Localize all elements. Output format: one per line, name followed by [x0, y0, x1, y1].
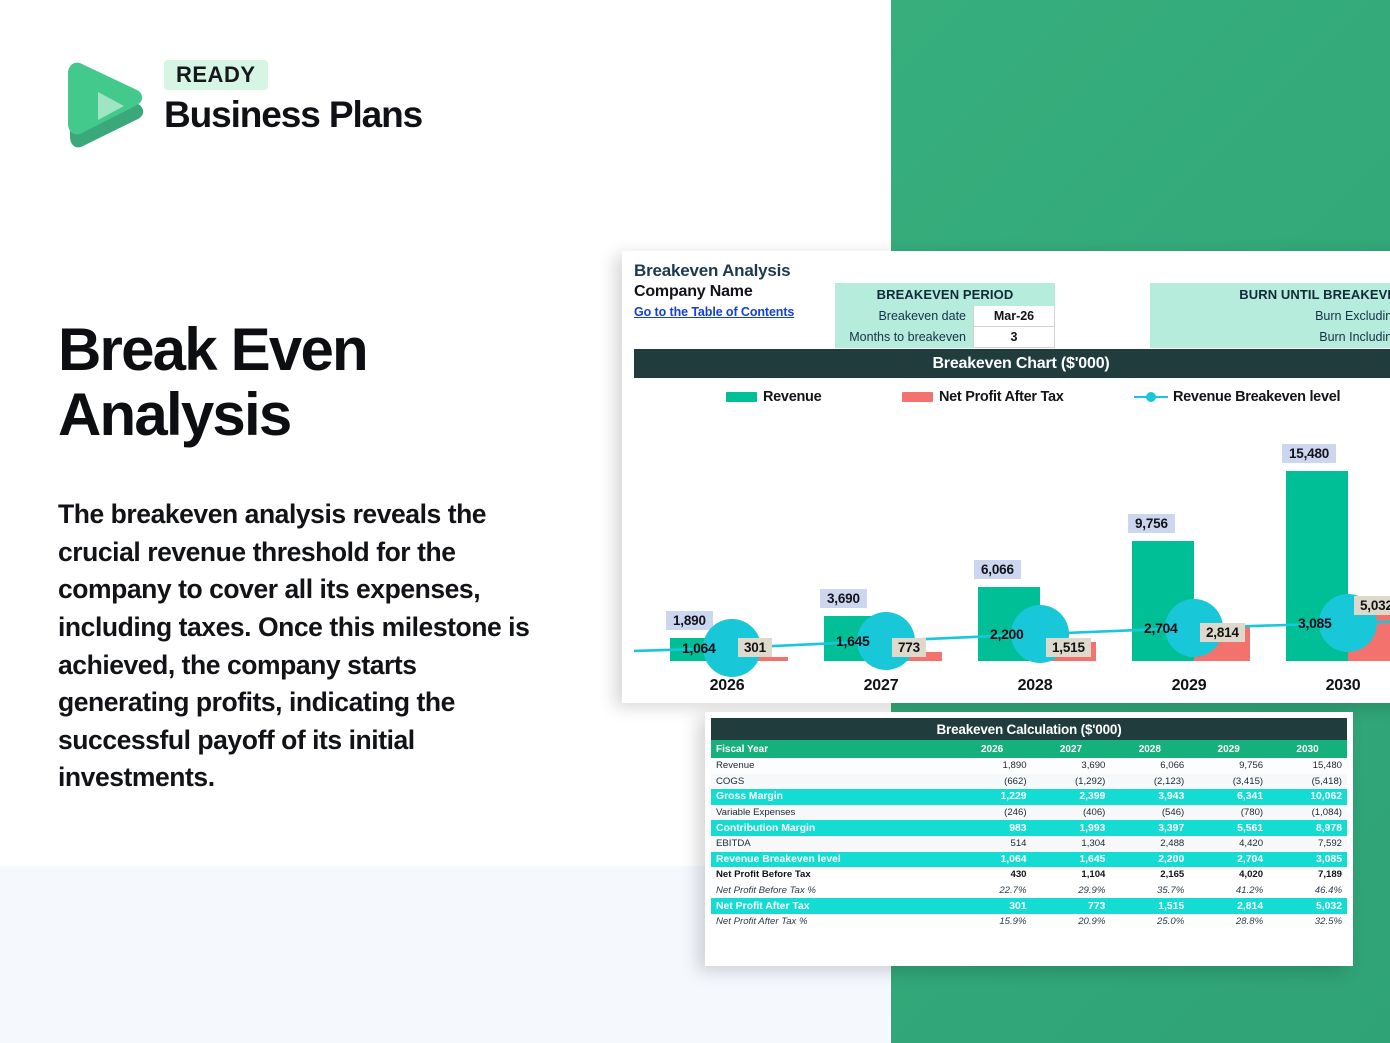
legend-item-revenue: Revenue	[726, 389, 821, 405]
table-cell-value: 5,032	[1268, 898, 1347, 914]
table-cell-value: 1,064	[953, 852, 1032, 868]
table-cell-value: 15,480	[1268, 758, 1347, 774]
x-axis-tick-2028: 2028	[960, 677, 1110, 695]
table-cell-value: 41.2%	[1189, 883, 1268, 899]
table-header-cell-2027: 2027	[1032, 740, 1111, 758]
table-cell-value: 5,561	[1189, 820, 1268, 836]
breakeven-period-header: BREAKEVEN PERIOD	[835, 283, 1055, 306]
legend-swatch-revenue-icon	[726, 392, 757, 402]
page-title: Break Even Analysis	[58, 318, 578, 448]
legend-item-net-profit-after-tax: Net Profit After Tax	[902, 389, 1064, 405]
data-label-breakeven-2027: 1,645	[836, 633, 870, 649]
brand-badge-ready: READY	[164, 60, 268, 90]
data-label-revenue-2029: 9,756	[1128, 514, 1175, 533]
table-cell-value: 46.4%	[1268, 883, 1347, 899]
chart-group-2026: 1,8903011,064	[652, 431, 802, 661]
table-cell-value: 4,020	[1189, 867, 1268, 883]
table-row-label: Variable Expenses	[711, 805, 953, 821]
table-cell-value: 2,200	[1110, 852, 1189, 868]
brand-logo-text: READY Business Plans	[164, 60, 422, 135]
table-cell-value: (546)	[1110, 805, 1189, 821]
table-header-cell-2026: 2026	[953, 740, 1032, 758]
chart-title: Breakeven Chart ($'000)	[634, 349, 1390, 378]
table-row: Revenue Breakeven level1,0641,6452,2002,…	[711, 852, 1347, 868]
table-row-label: Net Profit After Tax %	[711, 914, 953, 930]
table-cell-value: 28.8%	[1189, 914, 1268, 930]
table-cell-value: 2,488	[1110, 836, 1189, 852]
page-description: The breakeven analysis reveals the cruci…	[58, 496, 548, 797]
table-cell-value: 1,515	[1110, 898, 1189, 914]
chart-group-2029: 9,7562,8142,704	[1114, 431, 1264, 661]
table-cell-value: 22.7%	[953, 883, 1032, 899]
table-cell-value: 983	[953, 820, 1032, 836]
table-cell-value: 35.7%	[1110, 883, 1189, 899]
play-triangle-logo-icon	[62, 58, 148, 148]
legend-swatch-breakeven-line-icon	[1134, 392, 1168, 402]
table-cell-value: 1,229	[953, 789, 1032, 805]
table-cell-value: 3,085	[1268, 852, 1347, 868]
sheet-title: Breakeven Analysis	[634, 261, 1390, 281]
legend-label-npat: Net Profit After Tax	[939, 389, 1064, 405]
data-label-revenue-2027: 3,690	[820, 589, 867, 608]
table-cell-value: 7,592	[1268, 836, 1347, 852]
table-cell-value: 3,690	[1032, 758, 1111, 774]
data-label-breakeven-2026: 1,064	[682, 640, 716, 656]
table-cell-value: 10,062	[1268, 789, 1347, 805]
table-cell-value: 1,645	[1032, 852, 1111, 868]
table-cell-value: (1,084)	[1268, 805, 1347, 821]
table-row-label: Net Profit After Tax	[711, 898, 953, 914]
chart-group-2030: 15,4805,0323,085	[1268, 431, 1390, 661]
chart-plot-area: 20261,8903011,06420273,6907731,64520286,…	[634, 411, 1390, 703]
x-axis-tick-2027: 2027	[806, 677, 956, 695]
table-cell-value: 2,814	[1189, 898, 1268, 914]
data-label-npat-2030: 5,032	[1354, 596, 1390, 615]
brand-name: Business Plans	[164, 96, 422, 135]
table-cell-value: 3,397	[1110, 820, 1189, 836]
legend-label-revenue: Revenue	[763, 389, 821, 405]
chart-group-2028: 6,0661,5152,200	[960, 431, 1110, 661]
table-cell-value: (662)	[953, 774, 1032, 790]
table-cell-value: 7,189	[1268, 867, 1347, 883]
breakeven-date-row: Breakeven date Mar-26	[835, 306, 1055, 327]
data-label-revenue-2028: 6,066	[974, 560, 1021, 579]
burn-including-capex-row: Burn Including CAPEX (48.5)	[1150, 327, 1390, 348]
table-row: Net Profit After Tax3017731,5152,8145,03…	[711, 898, 1347, 914]
data-label-breakeven-2028: 2,200	[990, 626, 1024, 642]
table-cell-value: 1,304	[1032, 836, 1111, 852]
table-row: Net Profit Before Tax4301,1042,1654,0207…	[711, 867, 1347, 883]
data-label-breakeven-2030: 3,085	[1298, 615, 1332, 631]
table-cell-value: (2,123)	[1110, 774, 1189, 790]
burn-until-breakeven-header: BURN UNTIL BREAKEVEN ($'000)	[1150, 283, 1390, 306]
months-to-breakeven-label: Months to breakeven	[835, 327, 973, 348]
table-cell-value: 6,066	[1110, 758, 1189, 774]
legend-item-revenue-breakeven-level: Revenue Breakeven level	[1134, 389, 1340, 405]
table-cell-value: 32.5%	[1268, 914, 1347, 930]
breakeven-calculation-card: Breakeven Calculation ($'000) Fiscal Yea…	[705, 712, 1353, 966]
legend-label-breakeven: Revenue Breakeven level	[1173, 389, 1340, 405]
data-label-revenue-2026: 1,890	[666, 611, 713, 630]
breakeven-date-value: Mar-26	[973, 306, 1055, 327]
table-row: Net Profit After Tax %15.9%20.9%25.0%28.…	[711, 914, 1347, 930]
chart-legend: Revenue Net Profit After Tax Revenue Bre…	[634, 385, 1390, 409]
table-cell-value: 6,341	[1189, 789, 1268, 805]
table-header-cell-fiscal-year: Fiscal Year	[711, 740, 953, 758]
table-cell-value: 9,756	[1189, 758, 1268, 774]
brand-logo: READY Business Plans	[62, 58, 442, 158]
table-cell-value: (246)	[953, 805, 1032, 821]
table-cell-value: 8,978	[1268, 820, 1347, 836]
table-row-label: Revenue	[711, 758, 953, 774]
table-row-label: Revenue Breakeven level	[711, 852, 953, 868]
calc-table-title: Breakeven Calculation ($'000)	[711, 718, 1347, 740]
data-label-npat-2028: 1,515	[1046, 638, 1091, 657]
table-cell-value: 15.9%	[953, 914, 1032, 930]
data-label-revenue-2030: 15,480	[1282, 444, 1336, 463]
breakeven-calculation-table: Fiscal Year20262027202820292030Revenue1,…	[711, 740, 1347, 930]
chart-group-2027: 3,6907731,645	[806, 431, 956, 661]
table-cell-value: (1,292)	[1032, 774, 1111, 790]
table-row: Contribution Margin9831,9933,3975,5618,9…	[711, 820, 1347, 836]
table-row: Net Profit Before Tax %22.7%29.9%35.7%41…	[711, 883, 1347, 899]
data-label-npat-2027: 773	[892, 638, 926, 657]
table-row: EBITDA5141,3042,4884,4207,592	[711, 836, 1347, 852]
table-cell-value: 430	[953, 867, 1032, 883]
data-label-npat-2026: 301	[738, 638, 772, 657]
burn-excluding-capex-label: Burn Excluding CAPEX	[1150, 306, 1390, 327]
table-row-label: EBITDA	[711, 836, 953, 852]
slide-canvas: READY Business Plans Break Even Analysis…	[0, 0, 1390, 1043]
table-row-label: Net Profit Before Tax	[711, 867, 953, 883]
months-to-breakeven-value: 3	[973, 327, 1055, 348]
table-cell-value: 25.0%	[1110, 914, 1189, 930]
table-row-label: Contribution Margin	[711, 820, 953, 836]
table-row: COGS(662)(1,292)(2,123)(3,415)(5,418)	[711, 774, 1347, 790]
table-cell-value: (406)	[1032, 805, 1111, 821]
table-cell-value: 514	[953, 836, 1032, 852]
table-cell-value: 29.9%	[1032, 883, 1111, 899]
burn-including-capex-label: Burn Including CAPEX	[1150, 327, 1390, 348]
table-row-label: Net Profit Before Tax %	[711, 883, 953, 899]
breakeven-date-label: Breakeven date	[835, 306, 973, 327]
table-cell-value: (780)	[1189, 805, 1268, 821]
table-header-cell-2030: 2030	[1268, 740, 1347, 758]
table-header-cell-2028: 2028	[1110, 740, 1189, 758]
table-row: Variable Expenses(246)(406)(546)(780)(1,…	[711, 805, 1347, 821]
table-row-label: COGS	[711, 774, 953, 790]
months-to-breakeven-row: Months to breakeven 3	[835, 327, 1055, 348]
table-cell-value: 1,104	[1032, 867, 1111, 883]
breakeven-chart-card: Breakeven Analysis Company Name Go to th…	[622, 251, 1390, 703]
legend-swatch-npat-icon	[902, 392, 933, 402]
table-cell-value: 301	[953, 898, 1032, 914]
burn-until-breakeven-block: BURN UNTIL BREAKEVEN ($'000) Burn Exclud…	[1150, 283, 1390, 348]
table-header-row: Fiscal Year20262027202820292030	[711, 740, 1347, 758]
table-cell-value: 2,704	[1189, 852, 1268, 868]
x-axis-tick-2030: 2030	[1268, 677, 1390, 695]
breakeven-period-block: BREAKEVEN PERIOD Breakeven date Mar-26 M…	[835, 283, 1055, 348]
table-of-contents-link[interactable]: Go to the Table of Contents	[634, 305, 794, 319]
table-cell-value: 20.9%	[1032, 914, 1111, 930]
table-cell-value: 1,993	[1032, 820, 1111, 836]
table-cell-value: 773	[1032, 898, 1111, 914]
table-row: Revenue1,8903,6906,0669,75615,480	[711, 758, 1347, 774]
table-cell-value: 4,420	[1189, 836, 1268, 852]
data-label-npat-2029: 2,814	[1200, 623, 1245, 642]
table-cell-value: (3,415)	[1189, 774, 1268, 790]
table-cell-value: (5,418)	[1268, 774, 1347, 790]
x-axis-tick-2026: 2026	[652, 677, 802, 695]
table-cell-value: 2,399	[1032, 789, 1111, 805]
table-header-cell-2029: 2029	[1189, 740, 1268, 758]
table-cell-value: 3,943	[1110, 789, 1189, 805]
burn-excluding-capex-row: Burn Excluding CAPEX (11.0)	[1150, 306, 1390, 327]
table-cell-value: 2,165	[1110, 867, 1189, 883]
table-cell-value: 1,890	[953, 758, 1032, 774]
x-axis-tick-2029: 2029	[1114, 677, 1264, 695]
table-row: Gross Margin1,2292,3993,9436,34110,062	[711, 789, 1347, 805]
data-label-breakeven-2029: 2,704	[1144, 620, 1178, 636]
table-row-label: Gross Margin	[711, 789, 953, 805]
